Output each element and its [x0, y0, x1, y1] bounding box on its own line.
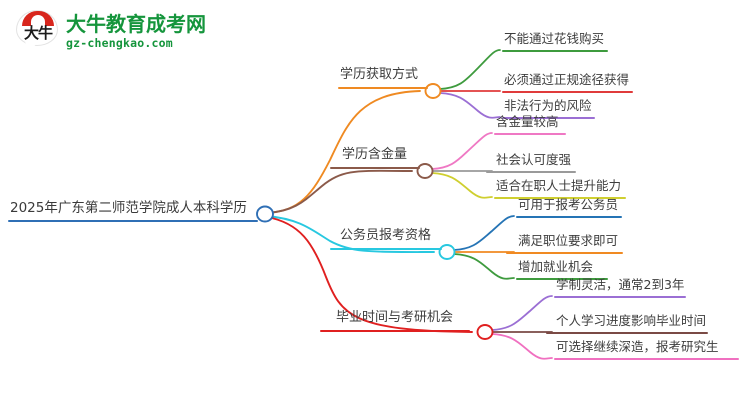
- branch-label-3[interactable]: 公务员报考资格: [340, 229, 431, 242]
- branch-label-2[interactable]: 学历含金量: [342, 148, 407, 161]
- branch-underline-4: [320, 330, 470, 332]
- leaf-label-1-1[interactable]: 不能通过花钱购买: [504, 33, 604, 46]
- root-underline: [8, 220, 258, 222]
- branch-circle-node-1[interactable]: [426, 84, 441, 98]
- leaf-label-3-3[interactable]: 增加就业机会: [518, 261, 593, 274]
- connector-branch-2-child-1: [432, 133, 492, 169]
- mindmap-canvas: 大牛 大牛教育成考网 gz-chengkao.com: [0, 0, 750, 410]
- leaf-underline-4-1: [554, 296, 686, 298]
- connector-branch-1-child-3: [440, 93, 500, 118]
- root-circle-node[interactable]: [257, 207, 273, 222]
- connector-branch-4-child-1: [492, 296, 552, 330]
- leaf-underline-2-1: [494, 133, 566, 135]
- leaf-label-2-2[interactable]: 社会认可度强: [496, 154, 571, 167]
- branch-underline-3: [330, 248, 442, 250]
- connector-branch-4-child-3: [492, 334, 552, 359]
- leaf-label-1-2[interactable]: 必须通过正规途径获得: [504, 74, 629, 87]
- branch-circle-node-3[interactable]: [440, 245, 455, 259]
- leaf-label-1-3[interactable]: 非法行为的风险: [504, 100, 592, 113]
- connector-branch-3-child-3: [454, 254, 514, 279]
- root-label[interactable]: 2025年广东第二师范学院成人本科学历: [10, 202, 247, 216]
- connector-branch-3-child-1: [454, 216, 514, 250]
- branch-underline-1: [338, 87, 428, 89]
- leaf-underline-2-2: [486, 171, 576, 173]
- leaf-label-4-2[interactable]: 个人学习进度影响毕业时间: [556, 315, 706, 328]
- connector-branch-2-child-3: [432, 173, 492, 198]
- leaf-underline-4-3: [554, 358, 739, 360]
- leaf-underline-3-2: [506, 252, 623, 254]
- branch-underline-2: [330, 167, 420, 169]
- leaf-underline-1-2: [502, 91, 633, 93]
- connector-branch-1-child-1: [440, 50, 500, 89]
- connector-root-branch-2: [267, 171, 412, 213]
- leaf-label-4-1[interactable]: 学制灵活，通常2到3年: [556, 279, 684, 292]
- branch-label-1[interactable]: 学历获取方式: [340, 68, 418, 81]
- leaf-label-4-3[interactable]: 可选择继续深造，报考研究生: [556, 341, 719, 354]
- leaf-label-2-1[interactable]: 含金量较高: [496, 116, 559, 129]
- leaf-underline-4-2: [546, 332, 708, 334]
- leaf-label-3-1[interactable]: 可用于报考公务员: [518, 199, 618, 212]
- branch-circle-node-4[interactable]: [478, 325, 493, 339]
- leaf-underline-1-1: [502, 50, 608, 52]
- leaf-underline-3-1: [516, 216, 622, 218]
- branch-circle-node-2[interactable]: [418, 164, 433, 178]
- leaf-label-2-3[interactable]: 适合在职人士提升能力: [496, 180, 621, 193]
- leaf-label-3-2[interactable]: 满足职位要求即可: [518, 235, 618, 248]
- branch-label-4[interactable]: 毕业时间与考研机会: [336, 311, 453, 324]
